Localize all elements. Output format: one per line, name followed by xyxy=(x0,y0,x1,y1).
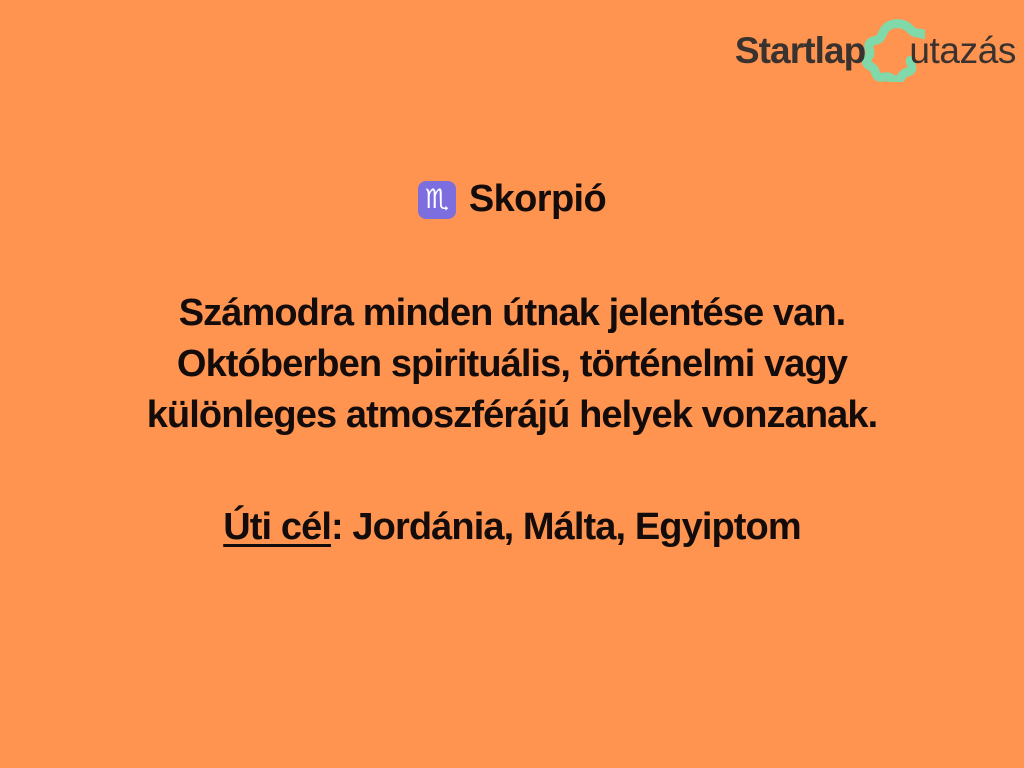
zodiac-sign-name: Skorpió xyxy=(469,180,606,220)
destination-label: Úti cél xyxy=(223,506,331,548)
body-line: Októberben spirituális, történelmi vagy xyxy=(0,339,1024,390)
zodiac-sign-heading: ♏ Skorpió xyxy=(0,180,1024,220)
destination-line: Úti cél: Jordánia, Málta, Egyiptom xyxy=(0,503,1024,551)
destination-value: : Jordánia, Málta, Egyiptom xyxy=(331,506,801,548)
brand-word-primary: Startlap xyxy=(735,32,866,69)
body-line: Számodra minden útnak jelentése van. xyxy=(0,288,1024,339)
horoscope-body-text: Számodra minden útnak jelentése van. Okt… xyxy=(0,288,1024,441)
body-line: különleges atmoszférájú helyek vonzanak. xyxy=(0,390,1024,441)
brand-word-secondary: utazás xyxy=(909,32,1016,69)
scorpio-zodiac-icon: ♏ xyxy=(418,181,456,219)
brand-logo[interactable]: Startlap utazás xyxy=(735,18,1016,82)
poster-canvas: Startlap utazás ♏ Skorpió Számodra minde… xyxy=(0,0,1024,768)
